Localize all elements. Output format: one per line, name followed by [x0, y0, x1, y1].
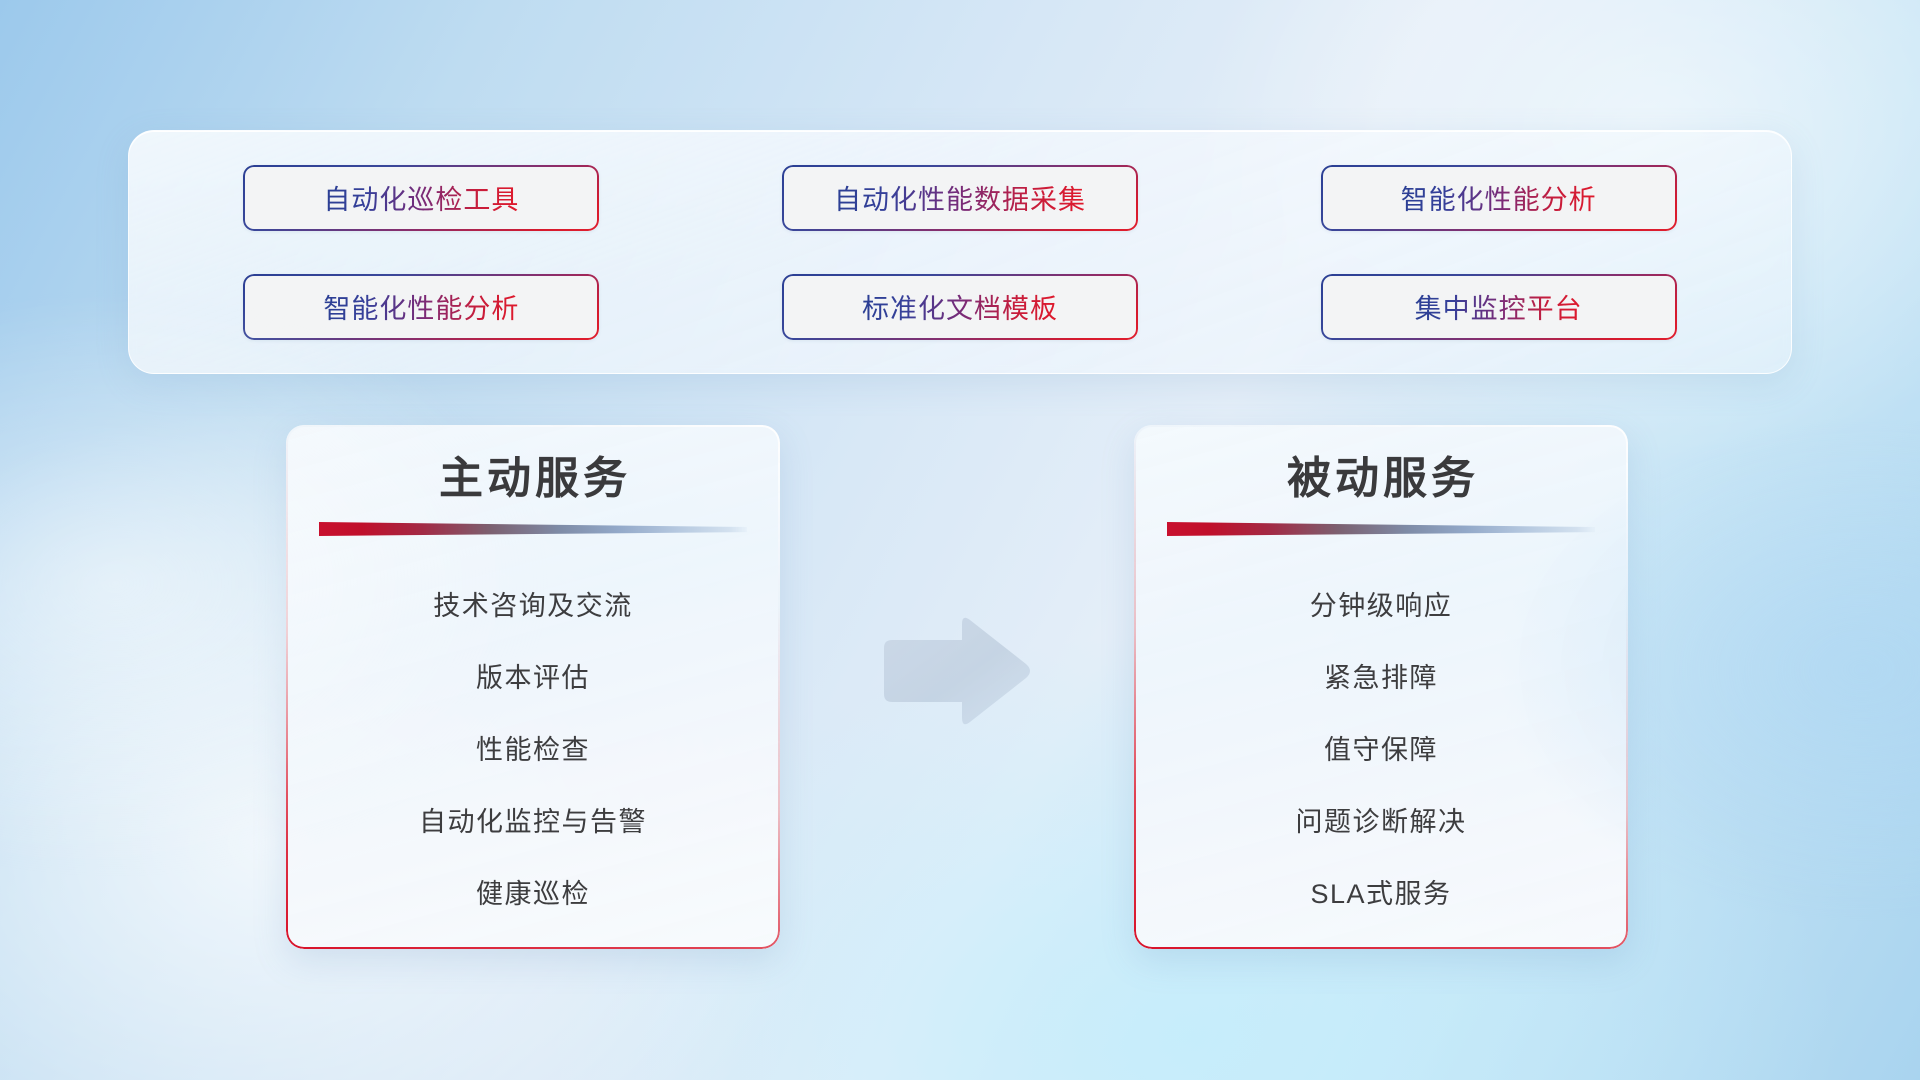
list-item[interactable]: 版本评估: [476, 642, 590, 714]
service-list: 分钟级响应 紧急排障 值守保障 问题诊断解决 SLA式服务: [1134, 570, 1628, 930]
list-item[interactable]: 值守保障: [1324, 714, 1438, 786]
capability-pill[interactable]: 自动化性能数据采集: [782, 165, 1138, 231]
service-card-reactive[interactable]: 被动服务 分钟级响应 紧急排障 值守保障 问题诊断解决 SLA式服务: [1134, 425, 1628, 949]
capability-pill-label: 自动化巡检工具: [323, 178, 519, 217]
right-arrow-icon: [876, 612, 1034, 730]
capability-pill[interactable]: 智能化性能分析: [1321, 165, 1677, 231]
capability-pill-label: 标准化文档模板: [862, 287, 1058, 326]
list-item[interactable]: 自动化监控与告警: [419, 786, 647, 858]
list-item[interactable]: 紧急排障: [1324, 642, 1438, 714]
list-item[interactable]: 性能检查: [476, 714, 590, 786]
card-divider: [1167, 522, 1595, 536]
capability-pill[interactable]: 集中监控平台: [1321, 274, 1677, 340]
slide-canvas: 自动化巡检工具 自动化性能数据采集 智能化性能分析 智能化性能分析 标准化文档模…: [0, 0, 1920, 1080]
capability-pill-label: 自动化性能数据采集: [834, 178, 1086, 217]
card-title: 主动服务: [435, 451, 631, 506]
capability-pill[interactable]: 自动化巡检工具: [243, 165, 599, 231]
capability-pill-label: 集中监控平台: [1415, 287, 1583, 326]
capability-pill[interactable]: 智能化性能分析: [243, 274, 599, 340]
service-list: 技术咨询及交流 版本评估 性能检查 自动化监控与告警 健康巡检: [286, 570, 780, 930]
list-item[interactable]: 分钟级响应: [1310, 570, 1453, 642]
list-item[interactable]: SLA式服务: [1310, 858, 1451, 930]
service-card-proactive[interactable]: 主动服务 技术咨询及交流 版本评估 性能检查 自动化监控与告警 健康巡检: [286, 425, 780, 949]
capability-pill[interactable]: 标准化文档模板: [782, 274, 1138, 340]
list-item[interactable]: 健康巡检: [476, 858, 590, 930]
card-title: 被动服务: [1283, 451, 1479, 506]
capability-panel: 自动化巡检工具 自动化性能数据采集 智能化性能分析 智能化性能分析 标准化文档模…: [128, 130, 1792, 374]
card-divider: [319, 522, 747, 536]
capability-pill-label: 智能化性能分析: [323, 287, 519, 326]
capability-pill-label: 智能化性能分析: [1401, 178, 1597, 217]
list-item[interactable]: 问题诊断解决: [1296, 786, 1467, 858]
list-item[interactable]: 技术咨询及交流: [433, 570, 633, 642]
